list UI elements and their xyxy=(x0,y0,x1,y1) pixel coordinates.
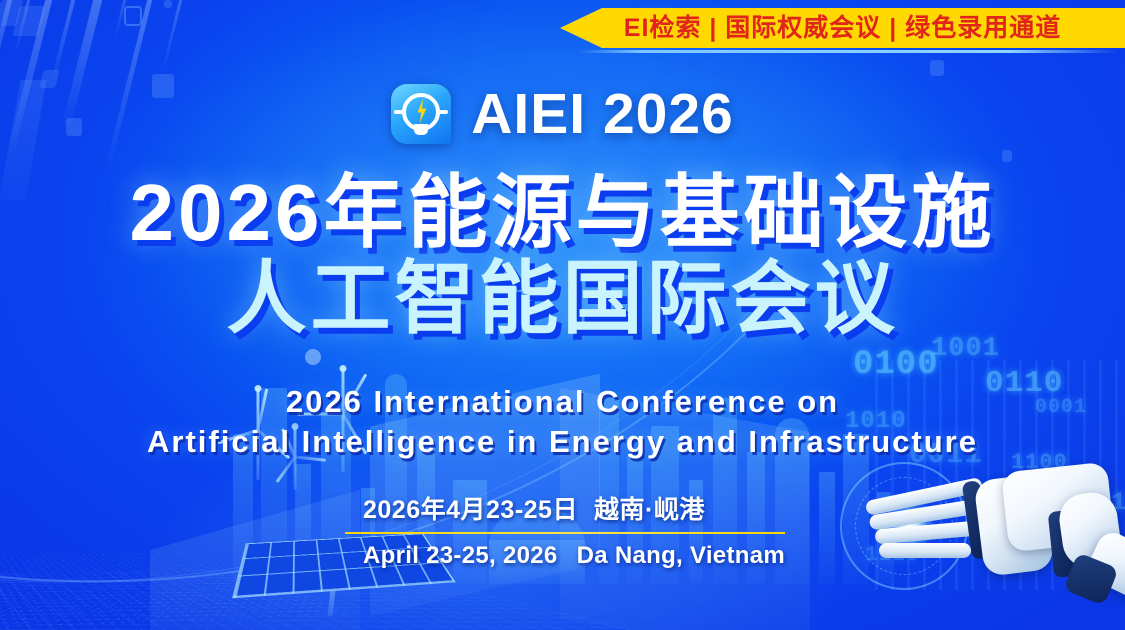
conference-banner: 0100 1001 0110 1010 0011 1100 0101 1110 … xyxy=(0,0,1125,630)
subtitle-en-line-2: Artificial Intelligence in Energy and In… xyxy=(0,422,1125,462)
sun-dot xyxy=(305,349,321,365)
event-place-cn: 越南·岘港 xyxy=(580,495,785,525)
brand-name: AIEI 2026 xyxy=(471,86,734,143)
robotic-hand-icon xyxy=(855,455,1125,630)
title-cn-line-2: 人工智能国际会议 xyxy=(0,256,1125,342)
subtitle-en: 2026 International Conference on Artific… xyxy=(0,382,1125,461)
event-date-en: April 23-25, 2026 xyxy=(345,542,563,571)
event-details: 2026年4月23-25日 越南·岘港 April 23-25, 2026 Da… xyxy=(345,495,785,571)
event-details-row-cn: 2026年4月23-25日 越南·岘港 xyxy=(345,495,785,525)
subtitle-en-line-1: 2026 International Conference on xyxy=(0,382,1125,422)
title-cn-line-1: 2026年能源与基础设施 xyxy=(0,170,1125,256)
page-title: 2026年能源与基础设施 人工智能国际会议 xyxy=(0,170,1125,343)
solar-panel-leg xyxy=(328,572,338,616)
ribbon-text: EI检索 | 国际权威会议 | 绿色录用通道 xyxy=(624,16,1061,41)
ribbon-underline xyxy=(578,50,1118,53)
circuit-dot-mesh xyxy=(0,551,352,630)
brand-lockup: AIEI 2026 xyxy=(0,84,1125,144)
glow-point-icon xyxy=(883,500,935,552)
highlight-ribbon: EI检索 | 国际权威会议 | 绿色录用通道 xyxy=(560,8,1125,48)
event-details-row-en: April 23-25, 2026 Da Nang, Vietnam xyxy=(345,542,785,571)
light-plane xyxy=(150,490,360,630)
perspective-grid-floor xyxy=(0,567,671,630)
event-place-en: Da Nang, Vietnam xyxy=(563,542,785,571)
details-divider xyxy=(345,532,785,534)
energy-bolt-logo-icon xyxy=(391,84,451,144)
event-date-cn: 2026年4月23-25日 xyxy=(345,495,580,525)
hud-ring-icon xyxy=(840,462,968,590)
binary-digit-stream: 0100 1001 0110 1010 0011 1100 0101 1110 … xyxy=(835,330,1125,630)
